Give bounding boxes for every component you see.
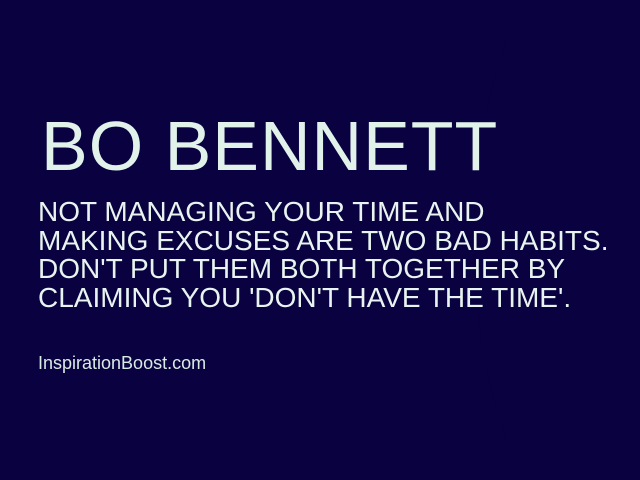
quote-block: NOT MANAGING YOUR TIME AND MAKING EXCUSE…	[38, 198, 598, 312]
page-title: BO BENNETT	[41, 108, 498, 184]
quote-line-3: DON'T PUT THEM BOTH TOGETHER BY	[38, 255, 598, 284]
quote-line-1: NOT MANAGING YOUR TIME AND	[38, 198, 598, 227]
attribution-source: InspirationBoost.com	[38, 352, 206, 374]
quote-poster: BO BENNETT NOT MANAGING YOUR TIME AND MA…	[0, 0, 640, 480]
quote-line-2: MAKING EXCUSES ARE TWO BAD HABITS.	[38, 227, 598, 256]
quote-line-4: CLAIMING YOU 'DON'T HAVE THE TIME'.	[38, 284, 598, 313]
poster-content: BO BENNETT NOT MANAGING YOUR TIME AND MA…	[0, 0, 640, 480]
